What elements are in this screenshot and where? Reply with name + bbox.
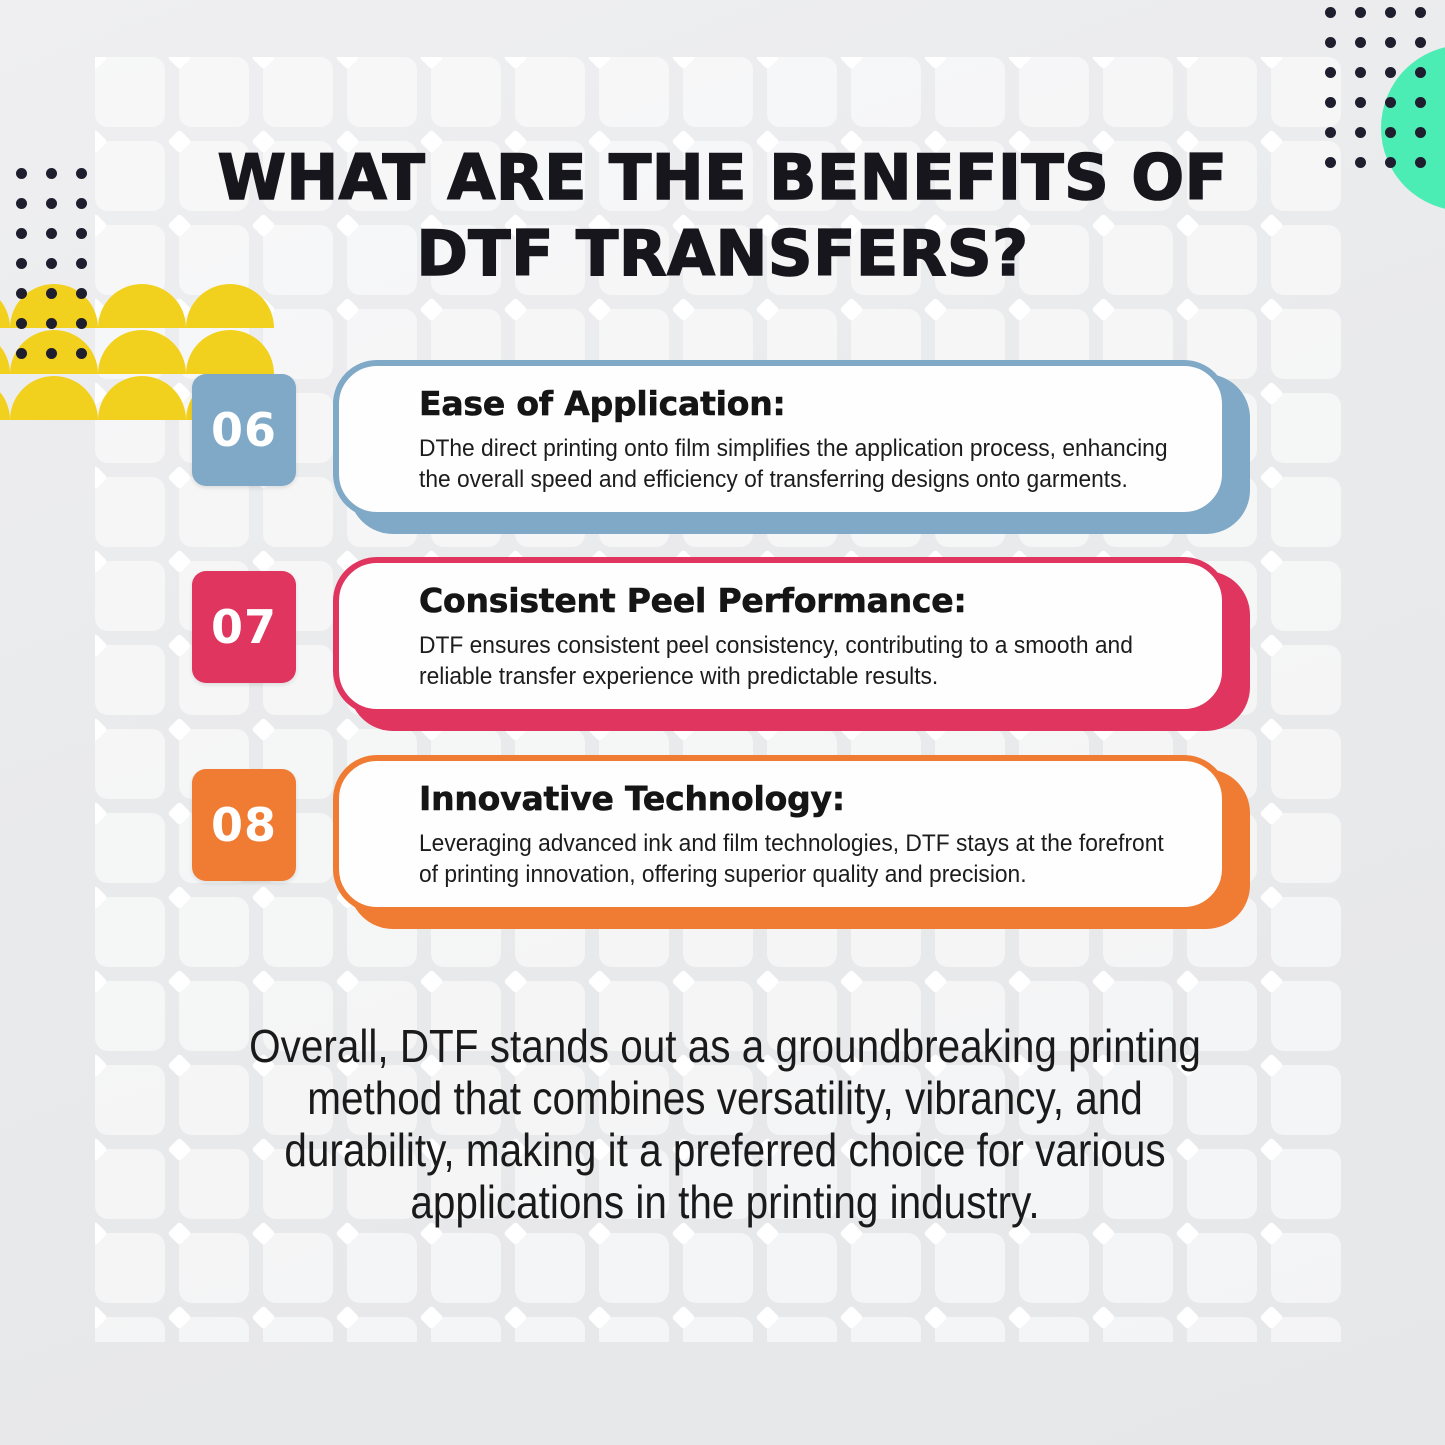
card-panel-08: Innovative Technology: Leveraging advanc… (333, 755, 1228, 913)
benefit-card-06: 06 Ease of Application: DThe direct prin… (0, 358, 1445, 533)
card-heading-08: Innovative Technology: (419, 779, 1182, 819)
card-number-badge-07: 07 (192, 571, 296, 683)
infographic-canvas: WHAT ARE THE BENEFITS OF DTF TRANSFERS? … (0, 0, 1445, 1445)
benefit-card-07: 07 Consistent Peel Performance: DTF ensu… (0, 555, 1445, 730)
card-body-08: Leveraging advanced ink and film technol… (419, 828, 1185, 890)
card-heading-06: Ease of Application: (419, 384, 1182, 424)
card-body-06: DThe direct printing onto film simplifie… (419, 433, 1185, 495)
page-title: WHAT ARE THE BENEFITS OF DTF TRANSFERS? (150, 140, 1295, 292)
card-number-badge-06: 06 (192, 374, 296, 486)
closing-paragraph: Overall, DTF stands out as a groundbreak… (170, 1020, 1280, 1228)
card-body-07: DTF ensures consistent peel consistency,… (419, 630, 1185, 692)
card-heading-07: Consistent Peel Performance: (419, 581, 1182, 621)
card-number-badge-08: 08 (192, 769, 296, 881)
benefit-card-08: 08 Innovative Technology: Leveraging adv… (0, 753, 1445, 928)
card-panel-06: Ease of Application: DThe direct printin… (333, 360, 1228, 518)
card-panel-07: Consistent Peel Performance: DTF ensures… (333, 557, 1228, 715)
closing-paragraph-text: Overall, DTF stands out as a groundbreak… (237, 1020, 1214, 1228)
